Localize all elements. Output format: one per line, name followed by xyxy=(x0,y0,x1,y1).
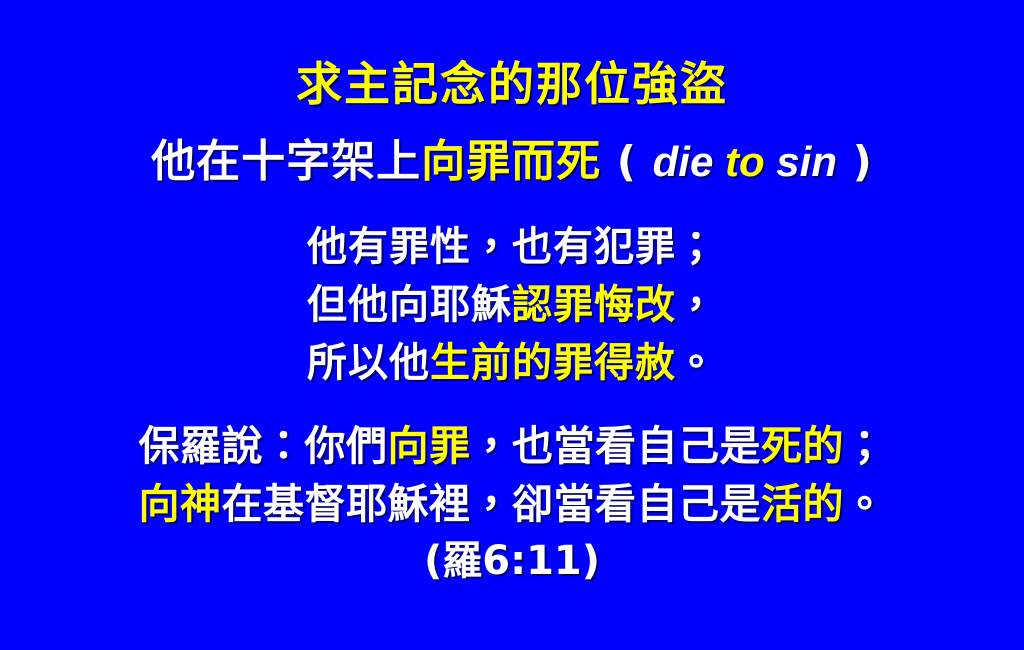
reference-text: (羅6:11) xyxy=(424,538,600,584)
middle-line3-seg1: 所以他 xyxy=(307,340,430,386)
lower-line2-seg1-accent: 向神 xyxy=(139,480,222,528)
subtitle-paren-open: ( xyxy=(601,137,652,186)
subtitle-part1: 他在十字架上 xyxy=(151,136,421,187)
lower-stanza-line-2: 向神在基督耶穌裡，卻當看自己是活的。 xyxy=(0,478,1024,530)
lower-line1-seg4-accent: 死的 xyxy=(761,422,844,470)
slide-canvas: 求主記念的那位強盜 他在十字架上向罪而死 ( die to sin ) 他有罪性… xyxy=(0,0,1024,650)
middle-line3-seg3: 。 xyxy=(676,340,717,386)
middle-stanza-line-3: 所以他生前的罪得赦。 xyxy=(0,338,1024,388)
middle-line2-seg1: 但他向耶穌 xyxy=(307,282,512,328)
lower-line1-seg5: ； xyxy=(844,422,886,470)
subtitle-paren-close: ) xyxy=(837,137,873,186)
lower-line1-seg1: 保羅說：你們 xyxy=(139,422,388,470)
middle-line3-seg2-accent: 生前的罪得赦 xyxy=(430,340,676,386)
subtitle-en-die: die xyxy=(653,138,725,185)
middle-stanza-line-1: 他有罪性，也有犯罪； xyxy=(0,222,1024,272)
slide-subtitle: 他在十字架上向罪而死 ( die to sin ) xyxy=(0,134,1024,190)
lower-line2-seg2: 在基督耶穌裡，卻當看自己是 xyxy=(222,480,762,528)
lower-line1-seg2-accent: 向罪 xyxy=(388,422,471,470)
middle-line2-seg3: ， xyxy=(676,282,717,328)
scripture-reference: (羅6:11) xyxy=(0,536,1024,586)
lower-stanza-line-1: 保羅說：你們向罪，也當看自己是死的； xyxy=(0,420,1024,472)
middle-stanza-line-2: 但他向耶穌認罪悔改， xyxy=(0,280,1024,330)
slide-title: 求主記念的那位強盜 xyxy=(0,56,1024,112)
middle-line1-seg1: 他有罪性，也有犯罪； xyxy=(307,224,717,270)
subtitle-part2-accent: 向罪而死 xyxy=(421,136,601,187)
subtitle-en-to-accent: to xyxy=(725,138,765,185)
lower-line1-seg3: ，也當看自己是 xyxy=(471,422,762,470)
lower-line2-seg4: 。 xyxy=(844,480,886,528)
subtitle-en-sin: sin xyxy=(765,138,837,185)
lower-line2-seg3-accent: 活的 xyxy=(761,480,844,528)
title-text: 求主記念的那位強盜 xyxy=(296,57,728,111)
middle-line2-seg2-accent: 認罪悔改 xyxy=(512,282,676,328)
